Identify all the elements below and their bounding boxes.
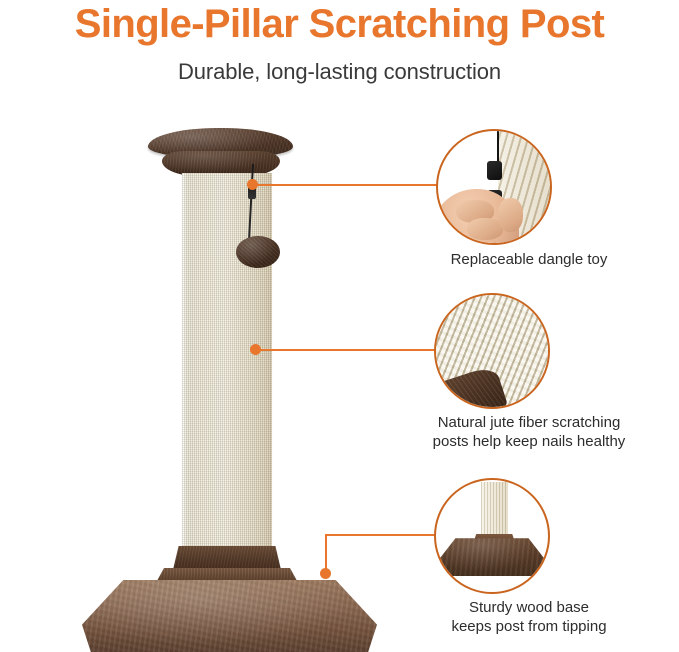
leader-line-wood-base-horizontal [325,534,437,536]
leader-line-wood-base-vertical [325,534,327,570]
leader-line-jute-fiber [255,349,435,351]
wood-base-detail-icon [438,538,546,576]
callout-caption-dangle-toy: Replaceable dangle toy [379,250,679,269]
callout-caption-jute-fiber-line2: posts help keep nails healthy [379,432,679,451]
product-image [60,118,390,638]
callout-circle-dangle-toy [436,129,552,245]
callout-caption-wood-base-line1: Sturdy wood base [379,598,679,617]
finger-icon-2 [467,218,503,239]
jute-column [182,173,272,558]
callout-caption-wood-base-line2: keeps post from tipping [379,617,679,636]
page-title: Single-Pillar Scratching Post [0,0,679,50]
dangle-pompom-icon [236,236,280,268]
callout-caption-jute-fiber-line1: Natural jute fiber scratching [379,413,679,432]
base-bottom-plate [82,580,377,652]
toy-clip-upper-icon [487,161,502,180]
page-subtitle: Durable, long-lasting construction [0,57,679,87]
leader-line-dangle-toy [252,184,438,186]
infographic-canvas: Single-Pillar Scratching Post Durable, l… [0,0,679,649]
thumb-icon [498,198,523,232]
callout-circle-jute-fiber [434,293,550,409]
callout-circle-wood-base [434,478,550,594]
